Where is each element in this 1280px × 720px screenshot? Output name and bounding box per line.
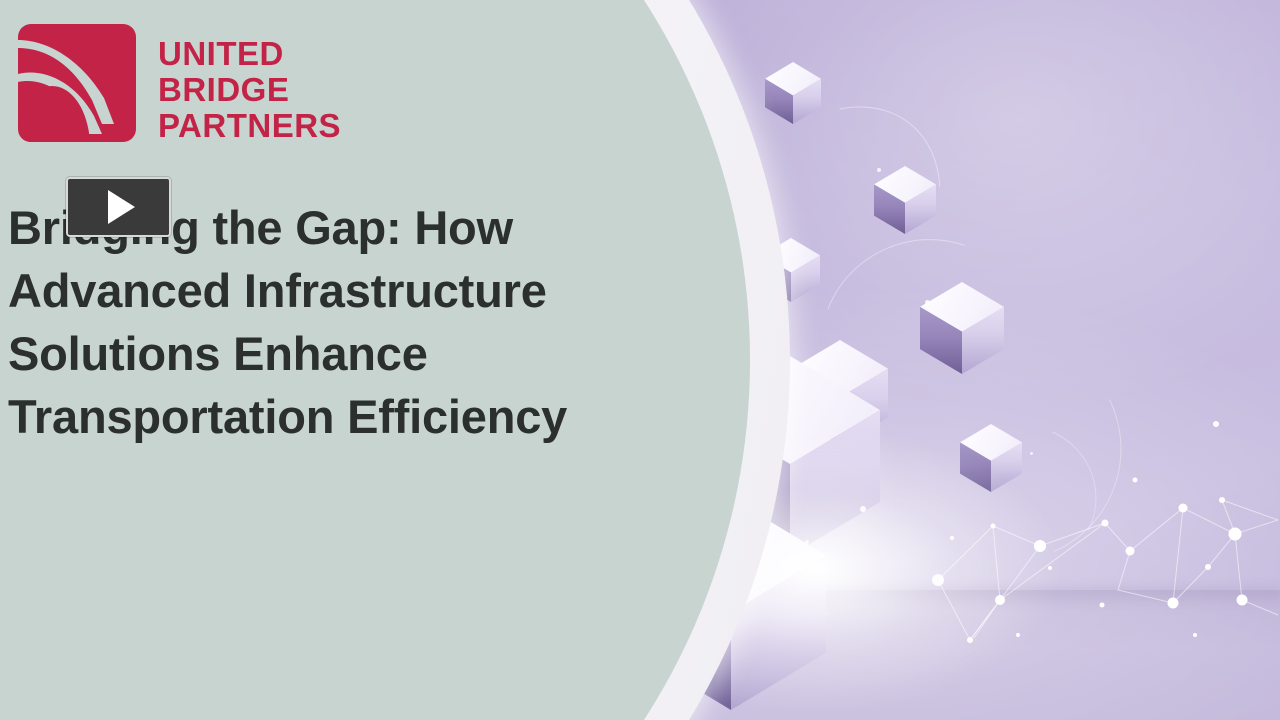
sparkle-icon <box>877 168 881 172</box>
sparkle-icon <box>925 300 930 305</box>
title-line-4: Transportation Efficiency <box>8 385 708 448</box>
floating-cube-icon <box>874 166 936 234</box>
sparkle-icon <box>860 506 866 512</box>
network-constellation-graphic <box>930 400 1280 720</box>
sparkle-icon <box>1030 452 1033 455</box>
play-button[interactable] <box>66 177 171 237</box>
brand-wordmark: UNITED BRIDGE PARTNERS <box>158 24 341 144</box>
brand-line-1: UNITED <box>158 36 341 72</box>
video-slide: UNITED BRIDGE PARTNERS Bridging the Gap:… <box>0 0 1280 720</box>
brand-line-2: BRIDGE <box>158 72 341 108</box>
title-line-2: Advanced Infrastructure <box>8 259 708 322</box>
brand-logo[interactable]: UNITED BRIDGE PARTNERS <box>18 24 341 144</box>
play-triangle-icon <box>108 190 135 224</box>
bridge-mark-icon <box>18 24 136 142</box>
title-line-3: Solutions Enhance <box>8 322 708 385</box>
brand-line-3: PARTNERS <box>158 108 341 144</box>
floating-cube-icon <box>920 282 1004 374</box>
